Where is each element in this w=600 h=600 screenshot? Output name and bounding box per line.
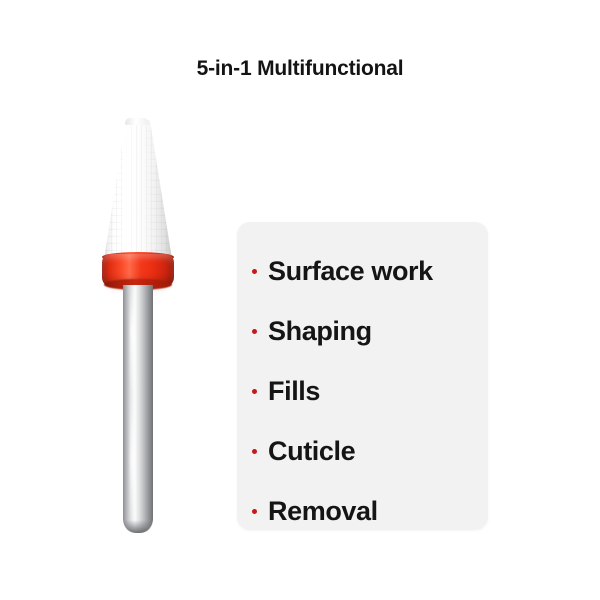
list-item: Shaping [237,301,488,361]
product-image-drill-bit [95,105,185,545]
feature-card: Surface work Shaping Fills Cuticle Remov… [237,222,488,530]
bullet-dot-icon [252,449,257,454]
bullet-dot-icon [252,389,257,394]
product-feature-graphic: 5-in-1 Multifunctional Surface work Shap… [0,0,600,600]
drill-bit-shank-highlight [130,287,135,527]
drill-bit-shank-end [123,520,153,533]
feature-label: Removal [268,496,378,526]
page-title: 5-in-1 Multifunctional [0,56,600,82]
drill-bit-serration-texture [104,120,172,268]
feature-label: Shaping [268,316,372,346]
list-item: Surface work [237,241,488,301]
feature-label: Cuticle [268,436,355,466]
drill-bit-rounded-tip [125,118,149,125]
list-item: Removal [237,481,488,541]
bullet-dot-icon [252,509,257,514]
drill-bit-body-highlight [121,123,134,265]
drill-bit-metal-shank [123,285,153,532]
feature-list: Surface work Shaping Fills Cuticle Remov… [237,241,488,541]
bullet-dot-icon [252,329,257,334]
list-item: Cuticle [237,421,488,481]
list-item: Fills [237,361,488,421]
feature-label: Fills [268,376,320,406]
bullet-dot-icon [252,269,257,274]
feature-label: Surface work [268,256,433,286]
